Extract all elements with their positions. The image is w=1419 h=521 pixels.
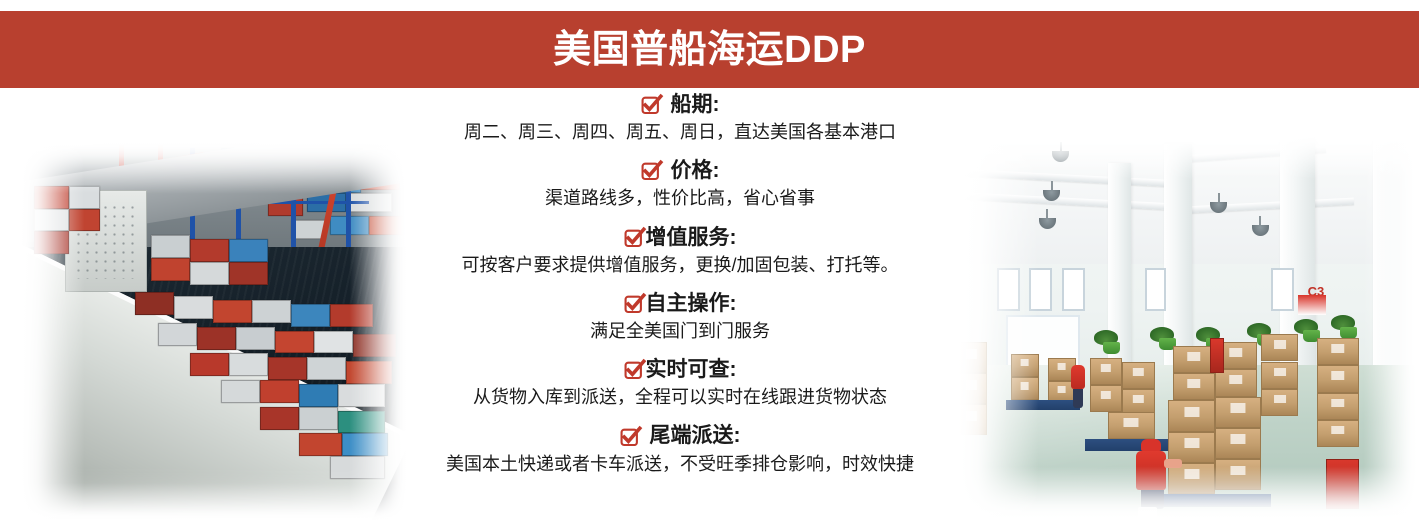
feature-heading: 实时可查:: [400, 357, 960, 382]
carton-box: [1215, 428, 1261, 459]
feature-item-price: 价格: 渠道路线多，性价比高，省心省事: [400, 158, 960, 211]
checkbox-checked-icon: [641, 160, 662, 181]
carton-box: [1317, 393, 1359, 420]
worker-cap: [1141, 439, 1162, 451]
promo-banner-page: 美国普船海运DDP: [0, 0, 1419, 521]
checkbox-checked-icon: [641, 94, 662, 115]
feature-description: 周二、周三、周四、周五、周日，直达美国各基本港口: [400, 119, 960, 145]
feature-description: 从货物入库到派送，全程可以实时在线跟进货物状态: [400, 384, 960, 410]
container-ship-at-port-photo: [18, 140, 408, 521]
feature-heading-text: 自主操作:: [646, 291, 737, 316]
ceiling-lamp: [1039, 218, 1056, 229]
feature-item-independent-operation: 自主操作: 满足全美国门到门服务: [400, 291, 960, 344]
carton-box: [1090, 385, 1122, 412]
warehouse-interior-photo: C3: [955, 132, 1419, 521]
pallet: [1006, 400, 1080, 410]
carton-box: [1215, 459, 1261, 490]
carton-box: [1261, 334, 1298, 361]
feature-heading: 船期:: [400, 92, 960, 117]
carton-box: [1168, 400, 1214, 431]
checkbox-checked-icon: [624, 293, 645, 314]
feature-heading: 增值服务:: [400, 225, 960, 250]
carton-box: [1173, 373, 1215, 400]
window: [997, 268, 1020, 311]
carton-box: [1215, 397, 1261, 428]
feature-list: 船期: 周二、周三、周四、周五、周日，直达美国各基本港口 价格: 渠道路线多，性…: [400, 92, 960, 521]
feature-heading: 自主操作:: [400, 291, 960, 316]
carton-box: [1261, 362, 1298, 389]
header-banner: 美国普船海运DDP: [0, 11, 1419, 88]
carton-box: [1173, 346, 1215, 373]
carton-box: [1168, 432, 1214, 463]
feature-item-shipping-schedule: 船期: 周二、周三、周四、周五、周日，直达美国各基本港口: [400, 92, 960, 145]
carton-box: [1261, 389, 1298, 416]
carton-box: [1011, 354, 1039, 377]
carton-box: [1090, 358, 1122, 385]
feature-item-value-added-service: 增值服务: 可按客户要求提供增值服务，更换/加固包装、打托等。: [400, 225, 960, 278]
red-cabinet: [1326, 459, 1358, 510]
feature-heading: 价格:: [400, 158, 960, 183]
carton-box: [1317, 365, 1359, 392]
worker-background: [1071, 365, 1085, 388]
worker-arm: [1164, 459, 1183, 469]
ship-photo-art: [18, 140, 408, 521]
carton-box: [1317, 338, 1359, 365]
feature-heading-text: 增值服务:: [646, 225, 737, 250]
checkbox-checked-icon: [624, 359, 645, 380]
carton-box: [1122, 362, 1154, 389]
feature-description: 可按客户要求提供增值服务，更换/加固包装、打托等。: [400, 252, 960, 278]
warehouse-photo-art: C3: [955, 132, 1419, 521]
worker-legs: [1073, 389, 1082, 408]
feature-description: 满足全美国门到门服务: [400, 318, 960, 344]
feature-description: 渠道路线多，性价比高，省心省事: [400, 185, 960, 211]
feature-heading-text: 价格:: [671, 158, 720, 183]
window: [1029, 268, 1052, 311]
wall-banner: [1298, 295, 1326, 314]
feature-heading-text: 实时可查:: [646, 357, 737, 382]
window: [1145, 268, 1166, 311]
window: [1062, 268, 1085, 311]
plant-pot: [1340, 327, 1357, 339]
carton-box: [1215, 369, 1257, 396]
checkbox-checked-icon: [620, 426, 641, 447]
feature-item-real-time-tracking: 实时可查: 从货物入库到派送，全程可以实时在线跟进货物状态: [400, 357, 960, 410]
carton-box: [1011, 377, 1039, 400]
feature-description: 美国本土快递或者卡车派送，不受旺季排仓影响，时效快捷: [400, 451, 960, 477]
pallet: [1164, 494, 1271, 508]
feature-heading-text: 尾端派送:: [650, 423, 741, 448]
checkbox-checked-icon: [624, 227, 645, 248]
window: [1271, 268, 1294, 311]
plant-pot: [1103, 342, 1120, 354]
carton-box: [1317, 420, 1359, 447]
deck-containers: [18, 140, 408, 521]
feature-heading-text: 船期:: [671, 92, 720, 117]
feature-heading: 尾端派送:: [400, 423, 960, 448]
feature-item-last-mile-delivery: 尾端派送: 美国本土快递或者卡车派送，不受旺季排仓影响，时效快捷: [400, 423, 960, 476]
carton-box: [1108, 412, 1154, 439]
worker-shoe: [1138, 507, 1157, 517]
worker-shirt: [1136, 451, 1166, 490]
page-title: 美国普船海运DDP: [553, 31, 866, 69]
fire-extinguisher-box: [1210, 338, 1224, 373]
